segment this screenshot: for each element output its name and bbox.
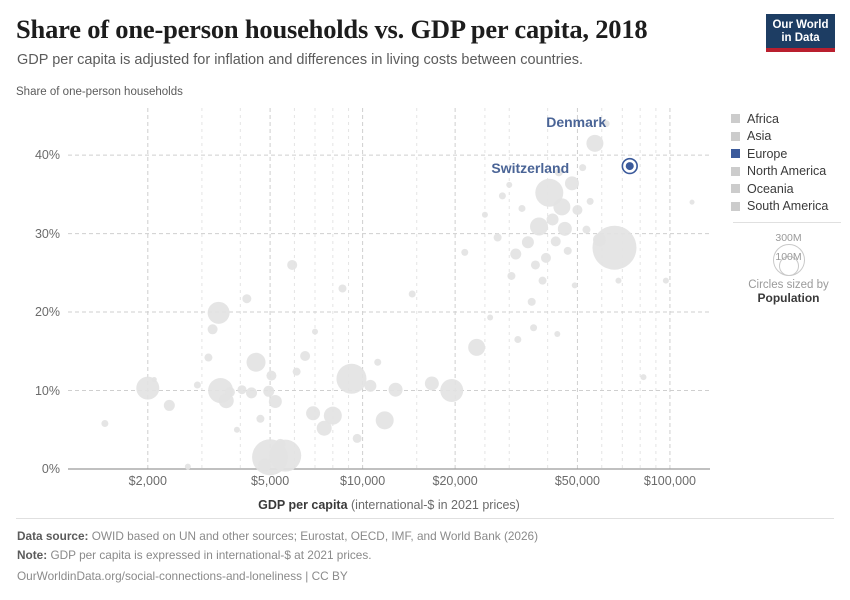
y-tick-label: 0% xyxy=(42,462,60,476)
legend-swatch xyxy=(731,114,740,123)
data-point[interactable] xyxy=(440,379,463,402)
data-point[interactable] xyxy=(275,439,285,449)
data-point[interactable] xyxy=(234,427,240,433)
data-point[interactable] xyxy=(510,248,521,259)
size-legend: 300M 100M Circles sized by Population xyxy=(731,230,846,305)
footer-source-label: Data source: xyxy=(17,529,88,543)
data-point[interactable] xyxy=(306,406,320,420)
data-point[interactable] xyxy=(554,331,560,337)
data-point[interactable] xyxy=(293,368,301,376)
data-point[interactable] xyxy=(547,213,559,225)
data-point[interactable] xyxy=(551,236,561,246)
data-point[interactable] xyxy=(487,315,493,321)
data-point[interactable] xyxy=(409,290,416,297)
data-point[interactable] xyxy=(582,226,590,234)
owid-logo[interactable]: Our World in Data xyxy=(766,14,835,52)
data-point[interactable] xyxy=(242,294,251,303)
page-title: Share of one-person households vs. GDP p… xyxy=(16,14,647,45)
legend-swatch xyxy=(731,202,740,211)
data-point[interactable] xyxy=(204,354,212,362)
legend-label: Africa xyxy=(747,112,779,126)
x-axis-title-bold: GDP per capita xyxy=(258,498,347,512)
legend-item-south-america[interactable]: South America xyxy=(731,198,846,216)
data-point[interactable] xyxy=(256,415,264,423)
data-point[interactable] xyxy=(300,351,310,361)
data-point[interactable] xyxy=(593,233,606,246)
footer-note: Note: GDP per capita is expressed in int… xyxy=(17,548,372,562)
data-point[interactable] xyxy=(530,324,537,331)
footer-link[interactable]: OurWorldinData.org/social-connections-an… xyxy=(17,569,348,583)
legend-label: Asia xyxy=(747,129,771,143)
y-axis-ticks: 0%10%20%30%40% xyxy=(0,0,68,600)
logo-line-2: in Data xyxy=(766,32,835,45)
data-point[interactable] xyxy=(208,324,218,334)
legend-item-africa[interactable]: Africa xyxy=(731,110,846,128)
data-point[interactable] xyxy=(690,200,695,205)
footer-note-label: Note: xyxy=(17,548,47,562)
y-tick-label: 10% xyxy=(35,384,60,398)
legend-item-north-america[interactable]: North America xyxy=(731,163,846,181)
annotation-denmark[interactable]: Denmark xyxy=(546,114,606,130)
data-point[interactable] xyxy=(558,222,572,236)
legend-item-europe[interactable]: Europe xyxy=(731,145,846,163)
data-point[interactable] xyxy=(246,387,257,398)
data-point[interactable] xyxy=(572,282,578,288)
y-tick-label: 20% xyxy=(35,305,60,319)
data-point[interactable] xyxy=(494,233,502,241)
x-tick-label: $50,000 xyxy=(555,474,600,488)
data-point[interactable] xyxy=(579,164,586,171)
x-tick-label: $20,000 xyxy=(433,474,478,488)
x-axis-title-rest: (international-$ in 2021 prices) xyxy=(348,498,520,512)
data-point[interactable] xyxy=(287,260,297,270)
data-point[interactable] xyxy=(353,434,362,443)
chart-root: Share of one-person households vs. GDP p… xyxy=(0,0,850,600)
data-point[interactable] xyxy=(592,226,636,270)
footer-divider xyxy=(16,518,834,519)
x-tick-label: $100,000 xyxy=(644,474,696,488)
data-point[interactable] xyxy=(482,212,488,218)
legend-item-asia[interactable]: Asia xyxy=(731,128,846,146)
size-legend-caption: Circles sized by xyxy=(731,279,846,291)
scatter-plot-svg xyxy=(68,108,710,469)
data-point[interactable] xyxy=(101,420,108,427)
data-point[interactable] xyxy=(263,386,274,397)
data-point[interactable] xyxy=(374,359,381,366)
data-point[interactable] xyxy=(237,385,246,394)
x-tick-label: $10,000 xyxy=(340,474,385,488)
legend-label: South America xyxy=(747,199,828,213)
data-point[interactable] xyxy=(461,249,468,256)
data-point[interactable] xyxy=(164,400,175,411)
size-legend-metric: Population xyxy=(731,291,846,305)
data-point[interactable] xyxy=(586,135,603,152)
footer-source-text: OWID based on UN and other sources; Euro… xyxy=(92,529,538,543)
y-tick-label: 40% xyxy=(35,148,60,162)
data-point[interactable] xyxy=(338,285,346,293)
data-point[interactable] xyxy=(553,198,570,215)
legend-label: North America xyxy=(747,164,826,178)
legend-item-oceania[interactable]: Oceania xyxy=(731,180,846,198)
data-point[interactable] xyxy=(587,198,594,205)
data-point[interactable] xyxy=(528,298,536,306)
data-point[interactable] xyxy=(531,260,540,269)
x-tick-label: $2,000 xyxy=(129,474,167,488)
data-point[interactable] xyxy=(506,182,512,188)
data-point[interactable] xyxy=(225,387,235,397)
legend-divider xyxy=(733,222,841,223)
data-point[interactable] xyxy=(530,218,548,236)
data-point[interactable] xyxy=(539,277,547,285)
data-point[interactable] xyxy=(425,376,439,390)
data-point[interactable] xyxy=(266,371,276,381)
data-point[interactable] xyxy=(312,329,318,335)
data-point[interactable] xyxy=(518,205,525,212)
data-point[interactable] xyxy=(663,278,669,284)
scatter-plot-area[interactable] xyxy=(68,108,710,469)
size-legend-outer-label: 300M xyxy=(775,232,801,244)
data-point[interactable] xyxy=(376,411,394,429)
data-point[interactable] xyxy=(541,253,551,263)
legend-swatch xyxy=(731,149,740,158)
data-point[interactable] xyxy=(615,278,621,284)
data-point[interactable] xyxy=(364,380,376,392)
size-legend-circles: 300M 100M xyxy=(731,230,846,276)
data-point[interactable] xyxy=(194,382,201,389)
data-point[interactable] xyxy=(507,272,515,280)
data-point[interactable] xyxy=(514,336,521,343)
data-point[interactable] xyxy=(565,176,579,190)
data-point[interactable] xyxy=(208,302,230,324)
size-legend-inner-label: 100M xyxy=(775,251,801,263)
footer-note-text: GDP per capita is expressed in internati… xyxy=(50,548,371,562)
data-point[interactable] xyxy=(564,247,572,255)
annotation-switzerland[interactable]: Switzerland xyxy=(491,160,569,176)
data-point-switzerland[interactable] xyxy=(626,162,634,170)
data-point[interactable] xyxy=(468,339,485,356)
logo-line-1: Our World xyxy=(766,19,835,32)
footer-source: Data source: OWID based on UN and other … xyxy=(17,529,538,543)
data-point[interactable] xyxy=(640,374,646,380)
data-point[interactable] xyxy=(499,192,506,199)
legend-swatch xyxy=(731,167,740,176)
data-point[interactable] xyxy=(317,421,332,436)
legend-swatch xyxy=(731,132,740,141)
data-point[interactable] xyxy=(258,459,271,472)
continent-legend[interactable]: AfricaAsiaEuropeNorth AmericaOceaniaSout… xyxy=(731,110,846,215)
data-point[interactable] xyxy=(185,464,191,470)
data-point[interactable] xyxy=(247,353,266,372)
data-point[interactable] xyxy=(336,364,366,394)
x-tick-label: $5,000 xyxy=(251,474,289,488)
data-point[interactable] xyxy=(389,383,403,397)
x-axis-title: GDP per capita (international-$ in 2021 … xyxy=(258,498,520,512)
chart-subtitle: GDP per capita is adjusted for inflation… xyxy=(17,52,583,68)
data-point[interactable] xyxy=(522,236,534,248)
y-tick-label: 30% xyxy=(35,227,60,241)
data-point[interactable] xyxy=(152,377,157,382)
legend-label: Europe xyxy=(747,147,787,161)
data-point[interactable] xyxy=(269,395,282,408)
data-point[interactable] xyxy=(572,205,582,215)
legend-swatch xyxy=(731,184,740,193)
legend-label: Oceania xyxy=(747,182,794,196)
